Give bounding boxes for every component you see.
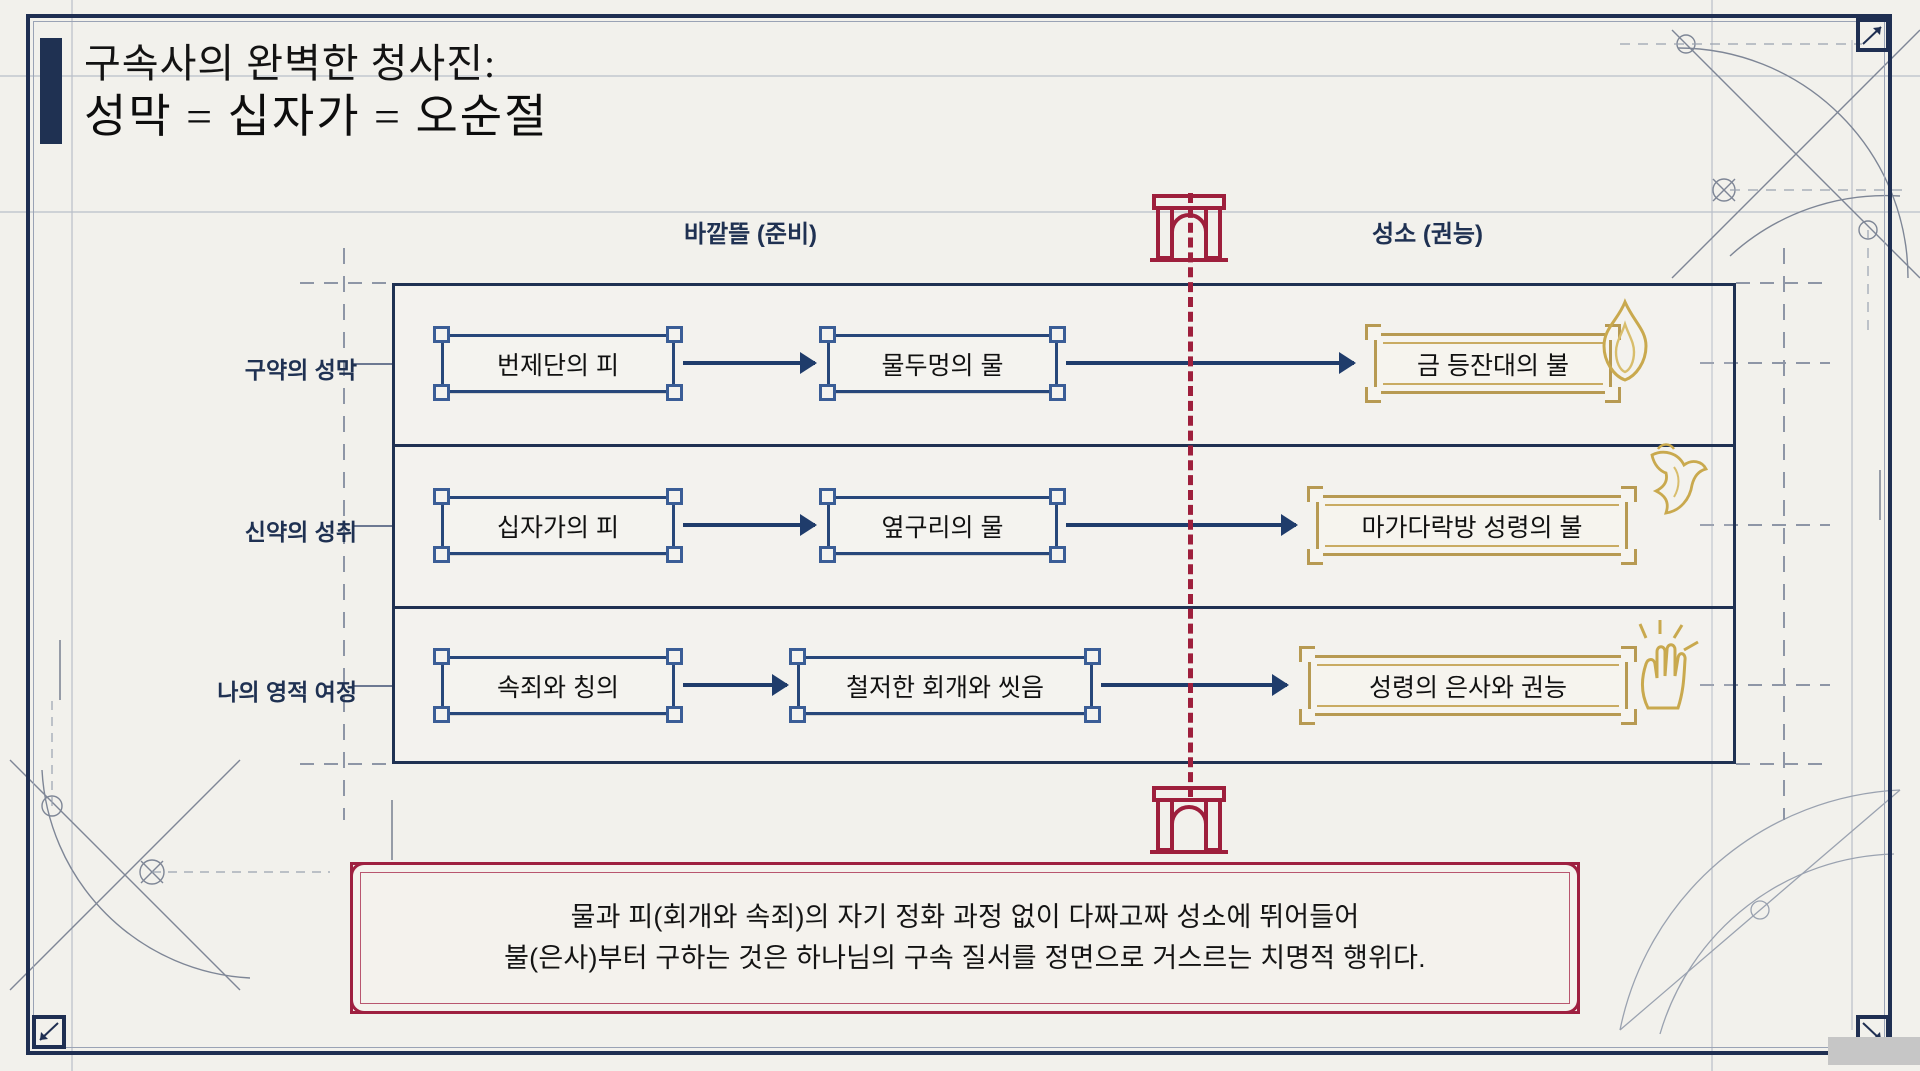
corner-bracket-icon (789, 648, 806, 665)
corner-bracket-icon (1084, 706, 1101, 723)
node-label: 옆구리의 물 (868, 508, 1018, 544)
corner-bracket-icon (666, 326, 683, 343)
corner-bracket-icon (666, 706, 683, 723)
corner-bracket-icon (819, 546, 836, 563)
node-nt-step2[interactable]: 옆구리의 물 (827, 496, 1058, 555)
node-label: 성령의 은사와 권능 (1355, 668, 1581, 704)
dashed-guides-bl (52, 700, 330, 872)
radiant-hand-icon (1630, 620, 1702, 719)
node-nt-step3[interactable]: 마가다락방 성령의 불 (1316, 495, 1628, 556)
corner-bracket-icon (1605, 387, 1621, 403)
corner-bracket-icon (1307, 549, 1323, 565)
node-label: 십자가의 피 (483, 508, 633, 544)
warning-line-2: 불(은사)부터 구하는 것은 하나님의 구속 질서를 정면으로 거스르는 치명적… (504, 938, 1426, 979)
arrow-journey-step1-to-step2 (683, 683, 787, 687)
flame-icon (1594, 298, 1656, 389)
node-journey-step3[interactable]: 성령의 은사와 권능 (1308, 655, 1628, 716)
row-connector-dash (352, 525, 392, 527)
node-label: 금 등잔대의 불 (1403, 346, 1583, 382)
temple-gate-icon-top (1148, 192, 1230, 269)
corner-bracket-icon (1299, 646, 1315, 662)
corner-bracket-icon (433, 546, 450, 563)
dove-icon (1640, 443, 1714, 534)
corner-bracket-icon (1621, 549, 1637, 565)
arrow-ot-step2-to-step3 (1066, 361, 1354, 365)
row-connector-dash (352, 363, 392, 365)
corner-bracket-icon (433, 648, 450, 665)
node-label: 철저한 회개와 씻음 (832, 668, 1058, 704)
corner-bracket-icon (819, 488, 836, 505)
node-journey-step1[interactable]: 속죄와 칭의 (441, 656, 675, 715)
table-row-divider (395, 606, 1733, 609)
corner-flourish-icon (350, 984, 380, 1014)
arrow-journey-step2-to-step3 (1101, 683, 1287, 687)
corner-flourish-icon (350, 862, 380, 892)
compass-construction-tr (1672, 30, 1920, 278)
slide-title-block: 구속사의 완벽한 청사진: 성막 = 십자가 = 오순절 (40, 38, 548, 144)
corner-bracket-icon (819, 326, 836, 343)
node-label: 속죄와 칭의 (483, 668, 633, 704)
diagonal-arrow-icon (36, 1019, 62, 1045)
corner-bracket-icon (666, 488, 683, 505)
corner-bracket-icon (1049, 384, 1066, 401)
corner-bracket-icon (1049, 488, 1066, 505)
row-label-personal-journey: 나의 영적 여정 (217, 673, 357, 707)
corner-bracket-icon (789, 706, 806, 723)
temple-gate-icon-bottom (1148, 784, 1230, 861)
node-ot-step3[interactable]: 금 등잔대의 불 (1374, 333, 1612, 394)
node-nt-step1[interactable]: 십자가의 피 (441, 496, 675, 555)
arrow-nt-step2-to-step3 (1066, 523, 1296, 527)
node-ot-step2[interactable]: 물두멍의 물 (827, 334, 1058, 393)
corner-bracket-icon (666, 546, 683, 563)
corner-bracket-icon (819, 384, 836, 401)
arrow-ot-step1-to-step2 (683, 361, 815, 365)
corner-bracket-icon (433, 488, 450, 505)
arc-construction-br (1620, 790, 1900, 1034)
veil-divider-line (1188, 193, 1193, 797)
column-header-outer-court: 바깥뜰 (준비) (684, 214, 817, 249)
corner-bracket-icon (433, 706, 450, 723)
corner-flourish-icon (1550, 862, 1580, 892)
corner-bracket-icon (666, 384, 683, 401)
video-control-remnant (1828, 1037, 1920, 1065)
row-label-new-testament: 신약의 성취 (245, 513, 357, 547)
arrow-nt-step1-to-step2 (683, 523, 815, 527)
compass-construction-bl (10, 760, 250, 990)
corner-bracket-icon (1365, 324, 1381, 340)
corner-bracket-icon (433, 384, 450, 401)
corner-bracket-icon (433, 326, 450, 343)
node-label: 마가다락방 성령의 불 (1348, 508, 1597, 544)
node-ot-step1[interactable]: 번제단의 피 (441, 334, 675, 393)
node-label: 물두멍의 물 (868, 346, 1018, 382)
column-header-holy-place: 성소 (권능) (1372, 214, 1483, 249)
diagonal-arrow-icon (1860, 22, 1886, 48)
corner-bracket-icon (1621, 486, 1637, 502)
corner-bracket-icon (1307, 486, 1323, 502)
node-journey-step2[interactable]: 철저한 회개와 씻음 (797, 656, 1093, 715)
warning-line-1: 물과 피(회개와 속죄)의 자기 정화 과정 없이 다짜고짜 성소에 뛰어들어 (504, 897, 1426, 938)
row-label-old-testament: 구약의 성막 (245, 351, 357, 385)
warning-callout-box: 물과 피(회개와 속죄)의 자기 정화 과정 없이 다짜고짜 성소에 뛰어들어 … (350, 862, 1580, 1014)
corner-flourish-icon (1550, 984, 1580, 1014)
registration-mark-bottom-left (32, 1015, 66, 1049)
page-title-line-1: 구속사의 완벽한 청사진: (84, 40, 548, 87)
corner-bracket-icon (1084, 648, 1101, 665)
corner-bracket-icon (666, 648, 683, 665)
table-row-divider (395, 444, 1733, 447)
corner-bracket-icon (1049, 546, 1066, 563)
page-title-line-2: 성막 = 십자가 = 오순절 (84, 89, 548, 144)
registration-mark-top-right (1856, 18, 1890, 52)
node-label: 번제단의 피 (483, 346, 633, 382)
corner-bracket-icon (1299, 709, 1315, 725)
title-accent-bar (40, 38, 62, 144)
corner-bracket-icon (1365, 387, 1381, 403)
corner-bracket-icon (1049, 326, 1066, 343)
row-connector-dash (352, 685, 392, 687)
